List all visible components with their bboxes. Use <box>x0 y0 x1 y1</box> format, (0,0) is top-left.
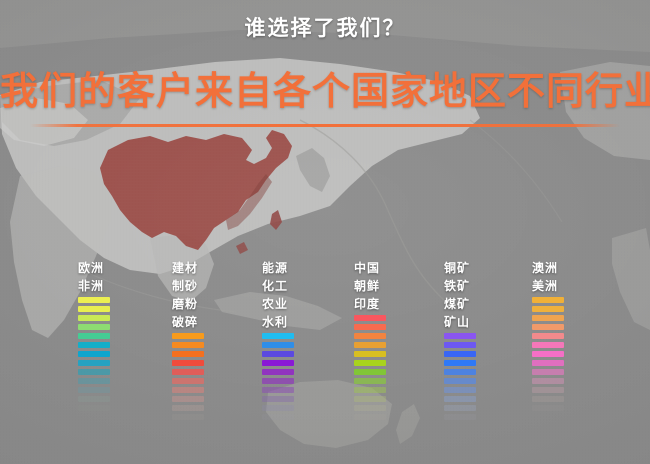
column-label: 破碎 <box>172 314 262 330</box>
color-bar <box>444 342 476 348</box>
color-bar <box>262 369 294 375</box>
color-bar <box>354 360 386 366</box>
color-bar <box>532 405 564 411</box>
color-bar <box>78 315 110 321</box>
color-bar <box>354 387 386 393</box>
column-label: 铜矿 <box>444 260 534 276</box>
color-bar <box>354 414 386 420</box>
column-label: 水利 <box>262 314 352 330</box>
color-bar <box>262 333 294 339</box>
color-bar <box>262 387 294 393</box>
color-bar <box>354 333 386 339</box>
color-bar <box>444 369 476 375</box>
color-bar <box>532 297 564 303</box>
color-bar <box>172 414 204 420</box>
color-bar <box>262 378 294 384</box>
column-regions-europe-africa: 欧洲非洲 <box>78 260 168 414</box>
color-bar <box>444 351 476 357</box>
color-bar <box>532 378 564 384</box>
color-bar <box>354 378 386 384</box>
column-label: 美洲 <box>532 278 622 294</box>
color-bar <box>262 414 294 420</box>
color-bar <box>354 351 386 357</box>
color-bar <box>172 387 204 393</box>
color-bar <box>172 378 204 384</box>
color-bar <box>444 396 476 402</box>
column-industries-mining: 铜矿铁矿煤矿矿山 <box>444 260 534 423</box>
color-bar <box>78 360 110 366</box>
column-label: 化工 <box>262 278 352 294</box>
column-label: 建材 <box>172 260 262 276</box>
column-label: 澳洲 <box>532 260 622 276</box>
column-label: 农业 <box>262 296 352 312</box>
color-bar <box>78 378 110 384</box>
color-bar <box>172 351 204 357</box>
color-bar <box>262 360 294 366</box>
color-bar <box>444 405 476 411</box>
color-bar <box>444 360 476 366</box>
color-bar <box>172 369 204 375</box>
category-columns: 欧洲非洲建材制砂磨粉破碎能源化工农业水利中国朝鲜印度铜矿铁矿煤矿矿山澳洲美洲 <box>0 260 650 460</box>
column-label: 煤矿 <box>444 296 534 312</box>
color-bar <box>262 351 294 357</box>
color-bar <box>532 396 564 402</box>
column-label: 中国 <box>354 260 444 276</box>
color-bar <box>532 333 564 339</box>
color-bar-stack <box>444 333 534 420</box>
color-bar <box>444 387 476 393</box>
color-bar <box>172 405 204 411</box>
color-bar <box>262 405 294 411</box>
column-label: 印度 <box>354 296 444 312</box>
color-bar <box>78 396 110 402</box>
column-label: 磨粉 <box>172 296 262 312</box>
color-bar <box>172 342 204 348</box>
color-bar <box>444 378 476 384</box>
color-bar <box>354 342 386 348</box>
column-regions-oceania-americas: 澳洲美洲 <box>532 260 622 414</box>
color-bar-stack <box>172 333 262 420</box>
banner-subtitle: 谁选择了我们？ <box>0 12 650 42</box>
color-bar <box>172 333 204 339</box>
color-bar <box>78 306 110 312</box>
column-label: 制砂 <box>172 278 262 294</box>
color-bar <box>78 342 110 348</box>
color-bar-stack <box>262 333 352 420</box>
column-label: 朝鲜 <box>354 278 444 294</box>
color-bar <box>532 369 564 375</box>
column-industries-building: 建材制砂磨粉破碎 <box>172 260 262 423</box>
promo-banner: 谁选择了我们？ 我们的客户来自各个国家地区不同行业 欧洲非洲建材制砂磨粉破碎能源… <box>0 0 650 464</box>
color-bar <box>444 333 476 339</box>
color-bar <box>78 387 110 393</box>
color-bar <box>354 396 386 402</box>
color-bar <box>78 405 110 411</box>
color-bar <box>78 324 110 330</box>
banner-headline: 我们的客户来自各个国家地区不同行业 <box>0 60 650 115</box>
column-regions-asia: 中国朝鲜印度 <box>354 260 444 423</box>
column-label: 铁矿 <box>444 278 534 294</box>
color-bar <box>532 351 564 357</box>
color-bar <box>532 315 564 321</box>
column-label: 欧洲 <box>78 260 168 276</box>
column-industries-energy: 能源化工农业水利 <box>262 260 352 423</box>
color-bar <box>532 324 564 330</box>
color-bar-stack <box>354 315 444 420</box>
color-bar <box>444 414 476 420</box>
color-bar <box>354 369 386 375</box>
color-bar <box>532 342 564 348</box>
color-bar <box>262 342 294 348</box>
color-bar <box>532 360 564 366</box>
color-bar <box>172 396 204 402</box>
color-bar <box>262 396 294 402</box>
color-bar <box>78 369 110 375</box>
color-bar <box>78 333 110 339</box>
color-bar-stack <box>78 297 168 411</box>
color-bar <box>532 306 564 312</box>
color-bar <box>532 387 564 393</box>
color-bar-stack <box>532 297 622 411</box>
column-label: 矿山 <box>444 314 534 330</box>
color-bar <box>78 297 110 303</box>
column-label: 非洲 <box>78 278 168 294</box>
color-bar <box>354 405 386 411</box>
color-bar <box>354 324 386 330</box>
color-bar <box>172 360 204 366</box>
color-bar <box>78 351 110 357</box>
headline-divider-rule <box>30 124 620 127</box>
color-bar <box>354 315 386 321</box>
column-label: 能源 <box>262 260 352 276</box>
